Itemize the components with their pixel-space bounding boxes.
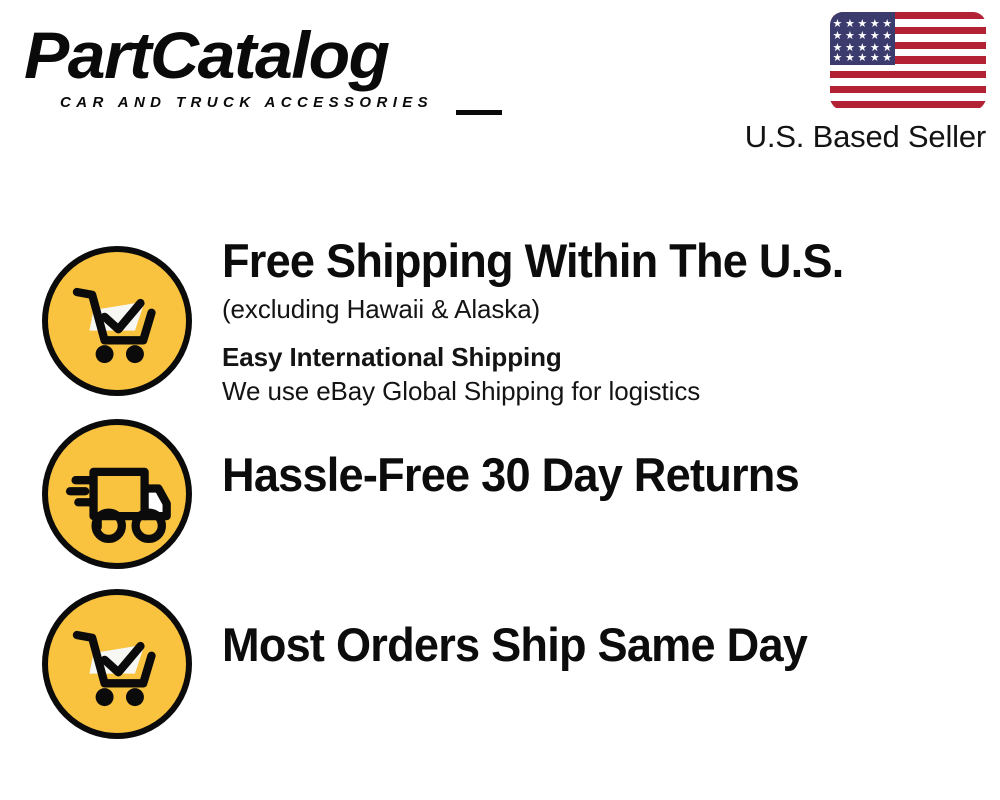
us-flag-badge: ★★★★★ ★★★★★ ★★★★★ ★★★★★: [830, 12, 986, 112]
brand-wordmark: PartCatalog: [24, 18, 508, 92]
shopping-cart-check-icon: [42, 246, 192, 396]
flag-stripe: [830, 78, 986, 85]
flag-stripe: [830, 86, 986, 93]
feature-subline: (excluding Hawaii & Alaska): [222, 292, 990, 326]
feature-text-block: Most Orders Ship Same Day: [222, 618, 990, 672]
feature-text-block: Hassle-Free 30 Day Returns: [222, 448, 990, 502]
page-header: PartCatalog CAR AND TRUCK ACCESSORIES ★★…: [0, 0, 1000, 180]
delivery-truck-icon: [42, 419, 192, 569]
feature-headline: Hassle-Free 30 Day Returns: [222, 448, 959, 502]
feature-subline-bold: Easy International Shipping: [222, 340, 990, 374]
flag-canton: ★★★★★ ★★★★★ ★★★★★ ★★★★★: [830, 12, 895, 65]
brand-logo[interactable]: PartCatalog CAR AND TRUCK ACCESSORIES: [24, 18, 494, 118]
brand-tagline: CAR AND TRUCK ACCESSORIES: [60, 94, 433, 111]
flag-stripe: [830, 101, 986, 108]
feature-headline: Most Orders Ship Same Day: [222, 618, 959, 672]
tagline-rule: [456, 110, 502, 115]
flag-star-row: ★★★★★: [830, 19, 895, 30]
flag-star-row: ★★★★★: [830, 53, 895, 64]
flag-star-row: ★★★★★: [830, 31, 895, 42]
flag-stripe: [830, 71, 986, 78]
flag-stripe: [830, 93, 986, 100]
us-flag-icon: ★★★★★ ★★★★★ ★★★★★ ★★★★★: [830, 12, 986, 110]
feature-text-block: Free Shipping Within The U.S. (excluding…: [222, 234, 990, 408]
list-item: Most Orders Ship Same Day: [0, 571, 1000, 743]
us-based-seller-label: U.S. Based Seller: [745, 118, 986, 156]
list-item: Free Shipping Within The U.S. (excluding…: [0, 228, 1000, 400]
feature-headline: Free Shipping Within The U.S.: [222, 234, 959, 288]
list-item: Hassle-Free 30 Day Returns: [0, 400, 1000, 572]
shopping-cart-check-icon: [42, 589, 192, 739]
flag-stripe: [830, 64, 986, 71]
